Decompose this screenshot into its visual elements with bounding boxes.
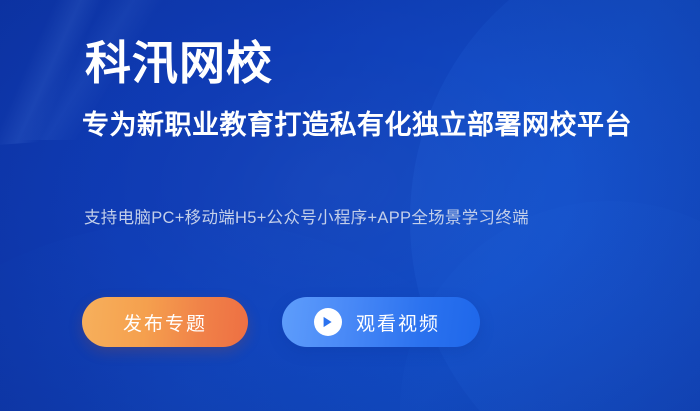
watch-video-button[interactable]: 观看视频 (282, 297, 480, 347)
publish-topic-button[interactable]: 发布专题 (82, 297, 248, 347)
banner-title: 科汛网校 (85, 36, 273, 90)
play-icon (314, 308, 342, 336)
banner-actions: 发布专题 观看视频 (82, 297, 480, 347)
banner-description: 支持电脑PC+移动端H5+公众号小程序+APP全场景学习终端 (84, 206, 529, 230)
publish-topic-button-label: 发布专题 (123, 309, 207, 336)
watch-video-button-label: 观看视频 (356, 309, 440, 336)
hero-banner: 科汛网校 专为新职业教育打造私有化独立部署网校平台 支持电脑PC+移动端H5+公… (0, 0, 700, 411)
banner-subtitle: 专为新职业教育打造私有化独立部署网校平台 (82, 106, 632, 144)
